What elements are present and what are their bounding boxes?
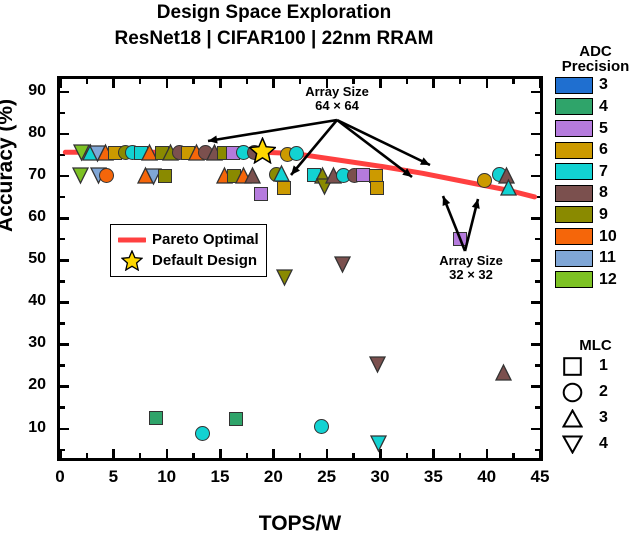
x-tick bbox=[219, 449, 222, 458]
y-minor-tick bbox=[60, 112, 65, 114]
x-tick bbox=[486, 79, 489, 88]
y-tick bbox=[60, 91, 69, 94]
circle-icon bbox=[551, 382, 593, 403]
x-tick-label: 0 bbox=[40, 467, 80, 487]
marker-circle bbox=[477, 173, 492, 188]
marker-triangle-down bbox=[370, 435, 387, 452]
star-icon bbox=[117, 250, 147, 271]
adc-color-swatch bbox=[555, 250, 593, 267]
y-tick bbox=[531, 343, 540, 346]
x-minor-tick bbox=[512, 453, 514, 458]
mlc-legend-item-3[interactable]: 3 bbox=[551, 405, 640, 431]
y-tick bbox=[60, 428, 69, 431]
x-tick bbox=[166, 79, 169, 88]
x-tick-label: 40 bbox=[467, 467, 507, 487]
adc-legend-item-10[interactable]: 10 bbox=[551, 226, 640, 248]
marker-triangle-down bbox=[276, 269, 293, 286]
marker-circle bbox=[289, 146, 304, 161]
x-tick-label: 30 bbox=[360, 467, 400, 487]
chart-subtitle: ResNet18 | CIFAR100 | 22nm RRAM bbox=[0, 28, 548, 50]
y-minor-tick bbox=[60, 280, 65, 282]
marker-square bbox=[158, 169, 172, 183]
mlc-legend-title: MLC bbox=[551, 338, 640, 353]
legend-item-pareto[interactable]: Pareto Optimal bbox=[117, 229, 259, 250]
adc-color-swatch bbox=[555, 98, 593, 115]
adc-color-swatch bbox=[555, 271, 593, 288]
y-tick-label: 20 bbox=[0, 376, 46, 394]
y-minor-tick bbox=[60, 196, 65, 198]
adc-legend-label: 6 bbox=[599, 141, 608, 159]
marker-default-design bbox=[249, 137, 276, 164]
y-minor-tick bbox=[60, 154, 65, 156]
marker-circle bbox=[99, 168, 114, 183]
adc-color-swatch bbox=[555, 77, 593, 94]
marker-square bbox=[149, 411, 163, 425]
adc-legend-item-12[interactable]: 12 bbox=[551, 269, 640, 291]
x-minor-tick bbox=[406, 79, 408, 84]
marker-triangle-up bbox=[244, 167, 261, 184]
adc-color-swatch bbox=[555, 142, 593, 159]
x-tick bbox=[432, 79, 435, 88]
y-minor-tick bbox=[535, 112, 540, 114]
adc-legend-title-line2: Precision bbox=[551, 59, 640, 74]
adc-color-swatch bbox=[555, 120, 593, 137]
adc-legend-item-5[interactable]: 5 bbox=[551, 118, 640, 140]
y-minor-tick bbox=[535, 280, 540, 282]
y-tick-label: 60 bbox=[0, 208, 46, 226]
y-tick bbox=[60, 133, 69, 136]
mlc-legend-label: 4 bbox=[599, 435, 608, 453]
adc-color-swatch bbox=[555, 185, 593, 202]
adc-legend-label: 7 bbox=[599, 163, 608, 181]
y-tick-label: 10 bbox=[0, 419, 46, 437]
x-minor-tick bbox=[299, 79, 301, 84]
y-tick bbox=[531, 259, 540, 262]
triangle-down-icon bbox=[551, 435, 593, 454]
y-tick bbox=[60, 259, 69, 262]
x-tick-label: 20 bbox=[253, 467, 293, 487]
inner-legend: Pareto Optimal Default Design bbox=[110, 224, 267, 277]
x-tick bbox=[326, 449, 329, 458]
x-minor-tick bbox=[459, 453, 461, 458]
x-minor-tick bbox=[192, 79, 194, 84]
adc-legend-item-9[interactable]: 9 bbox=[551, 204, 640, 226]
legend-item-default-design[interactable]: Default Design bbox=[117, 250, 259, 271]
marker-square bbox=[229, 412, 243, 426]
marker-circle bbox=[314, 419, 329, 434]
y-tick bbox=[60, 301, 69, 304]
x-tick bbox=[539, 449, 542, 458]
adc-legend-label: 10 bbox=[599, 228, 617, 246]
x-tick-label: 35 bbox=[413, 467, 453, 487]
x-minor-tick bbox=[299, 453, 301, 458]
mlc-legend-rows: 1234 bbox=[551, 353, 640, 457]
mlc-legend-item-1[interactable]: 1 bbox=[551, 353, 640, 379]
y-tick-label: 70 bbox=[0, 166, 46, 184]
y-minor-tick bbox=[535, 364, 540, 366]
mlc-legend-label: 1 bbox=[599, 357, 608, 375]
y-minor-tick bbox=[535, 238, 540, 240]
marker-triangle-up bbox=[273, 165, 290, 182]
y-minor-tick bbox=[535, 196, 540, 198]
marker-square bbox=[453, 232, 467, 246]
x-tick bbox=[219, 79, 222, 88]
marker-circle bbox=[195, 426, 210, 441]
marker-triangle-up bbox=[500, 179, 517, 196]
annotation-array-size-32: Array Size 32 × 32 bbox=[439, 254, 503, 282]
y-tick bbox=[531, 217, 540, 220]
adc-legend-item-3[interactable]: 3 bbox=[551, 75, 640, 97]
x-minor-tick bbox=[512, 79, 514, 84]
y-tick bbox=[531, 175, 540, 178]
marker-triangle-down bbox=[369, 356, 386, 373]
plot-area: Array Size 64 × 64 Array Size 32 × 32 Pa… bbox=[57, 76, 543, 461]
mlc-legend-label: 2 bbox=[599, 383, 608, 401]
y-minor-tick bbox=[535, 322, 540, 324]
marker-triangle-down bbox=[72, 167, 89, 184]
adc-legend-label: 3 bbox=[599, 76, 608, 94]
annotation-line1: Array Size bbox=[439, 253, 503, 268]
x-tick-label: 25 bbox=[307, 467, 347, 487]
y-tick bbox=[60, 217, 69, 220]
square-icon bbox=[551, 357, 593, 376]
x-minor-tick bbox=[192, 453, 194, 458]
adc-color-swatch bbox=[555, 228, 593, 245]
y-minor-tick bbox=[535, 154, 540, 156]
adc-precision-legend: ADC Precision 3456789101112 bbox=[551, 44, 640, 291]
annotation-line1: Array Size bbox=[305, 84, 369, 99]
annotation-line2: 64 × 64 bbox=[315, 98, 359, 113]
x-minor-tick bbox=[86, 453, 88, 458]
annotation-array-size-64: Array Size 64 × 64 bbox=[305, 85, 369, 113]
marker-square bbox=[370, 181, 384, 195]
legend-label-default-design: Default Design bbox=[152, 252, 257, 269]
adc-color-swatch bbox=[555, 163, 593, 180]
x-tick bbox=[59, 79, 62, 88]
x-tick-label: 10 bbox=[147, 467, 187, 487]
y-tick bbox=[531, 385, 540, 388]
adc-legend-label: 8 bbox=[599, 184, 608, 202]
annotation-arrow bbox=[465, 199, 480, 251]
adc-legend-label: 9 bbox=[599, 206, 608, 224]
pareto-line-swatch bbox=[117, 235, 147, 245]
x-tick bbox=[272, 79, 275, 88]
marker-square bbox=[254, 187, 268, 201]
mlc-legend-label: 3 bbox=[599, 409, 608, 427]
x-tick bbox=[59, 449, 62, 458]
y-minor-tick bbox=[60, 364, 65, 366]
marker-triangle-down bbox=[334, 256, 351, 273]
x-tick-label: 45 bbox=[520, 467, 560, 487]
x-minor-tick bbox=[139, 453, 141, 458]
y-minor-tick bbox=[535, 406, 540, 408]
x-tick bbox=[379, 79, 382, 88]
x-minor-tick bbox=[406, 453, 408, 458]
y-tick-label: 30 bbox=[0, 334, 46, 352]
y-tick bbox=[531, 301, 540, 304]
adc-color-swatch bbox=[555, 206, 593, 223]
x-axis-label: TOPS/W bbox=[57, 512, 543, 536]
x-tick bbox=[166, 449, 169, 458]
adc-legend-item-4[interactable]: 4 bbox=[551, 96, 640, 118]
y-tick bbox=[531, 91, 540, 94]
x-minor-tick bbox=[86, 79, 88, 84]
adc-legend-item-11[interactable]: 11 bbox=[551, 247, 640, 269]
y-minor-tick bbox=[60, 406, 65, 408]
x-minor-tick bbox=[246, 453, 248, 458]
x-tick-label: 15 bbox=[200, 467, 240, 487]
mlc-legend-item-4[interactable]: 4 bbox=[551, 431, 640, 457]
adc-legend-label: 5 bbox=[599, 120, 608, 138]
x-minor-tick bbox=[139, 79, 141, 84]
x-tick bbox=[112, 79, 115, 88]
adc-legend-label: 4 bbox=[599, 98, 608, 116]
marker-square bbox=[277, 181, 291, 195]
chart-root: Design Space Exploration ResNet18 | CIFA… bbox=[0, 0, 640, 547]
x-tick bbox=[272, 449, 275, 458]
y-tick bbox=[531, 133, 540, 136]
annotation-line2: 32 × 32 bbox=[449, 267, 493, 282]
y-minor-tick bbox=[60, 238, 65, 240]
x-tick-label: 5 bbox=[93, 467, 133, 487]
y-tick-label: 50 bbox=[0, 250, 46, 268]
y-tick-label: 90 bbox=[0, 82, 46, 100]
x-tick bbox=[432, 449, 435, 458]
y-tick bbox=[60, 343, 69, 346]
adc-legend-label: 12 bbox=[599, 271, 617, 289]
adc-legend-title-line1: ADC bbox=[551, 44, 640, 59]
adc-legend-item-7[interactable]: 7 bbox=[551, 161, 640, 183]
adc-legend-item-6[interactable]: 6 bbox=[551, 139, 640, 161]
x-minor-tick bbox=[459, 79, 461, 84]
y-tick bbox=[60, 385, 69, 388]
x-tick bbox=[486, 449, 489, 458]
mlc-legend: MLC 1234 bbox=[551, 338, 640, 457]
annotation-arrow bbox=[337, 120, 430, 165]
adc-legend-item-8[interactable]: 8 bbox=[551, 183, 640, 205]
y-minor-tick bbox=[60, 322, 65, 324]
legend-label-pareto: Pareto Optimal bbox=[152, 231, 259, 248]
x-tick bbox=[539, 79, 542, 88]
x-minor-tick bbox=[352, 453, 354, 458]
y-tick-label: 80 bbox=[0, 124, 46, 142]
y-tick-label: 40 bbox=[0, 292, 46, 310]
adc-legend-rows: 3456789101112 bbox=[551, 75, 640, 291]
triangle-up-icon bbox=[551, 409, 593, 428]
marker-triangle-up bbox=[495, 364, 512, 381]
chart-title: Design Space Exploration bbox=[0, 2, 548, 24]
x-tick bbox=[112, 449, 115, 458]
mlc-legend-item-2[interactable]: 2 bbox=[551, 379, 640, 405]
y-tick bbox=[60, 175, 69, 178]
adc-legend-label: 11 bbox=[599, 249, 616, 267]
x-minor-tick bbox=[246, 79, 248, 84]
y-tick bbox=[531, 428, 540, 431]
